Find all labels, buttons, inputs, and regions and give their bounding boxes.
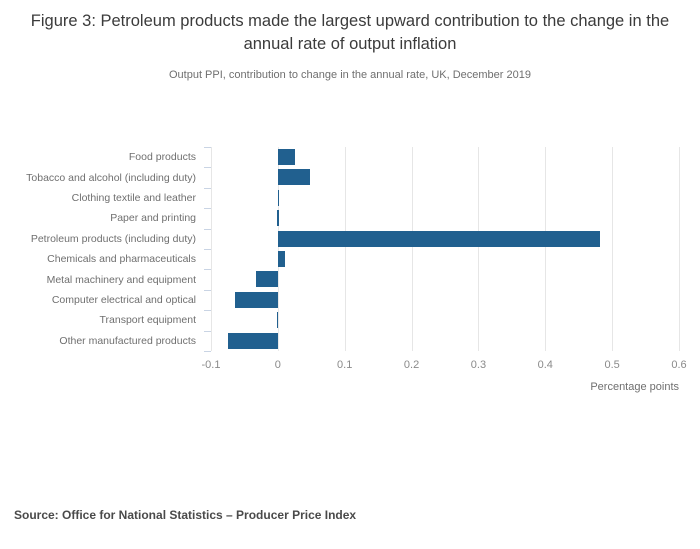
- y-axis-label: Transport equipment: [0, 314, 196, 326]
- x-tick-label: 0.3: [448, 359, 508, 371]
- x-tick-label: 0.2: [382, 359, 442, 371]
- x-tick-label: 0: [248, 359, 308, 371]
- bar: [278, 149, 295, 165]
- y-axis-category-labels: Food productsTobacco and alcohol (includ…: [0, 147, 205, 351]
- y-tick-mark: [204, 188, 211, 189]
- y-tick-mark: [204, 290, 211, 291]
- y-axis-label: Metal machinery and equipment: [0, 274, 196, 286]
- y-tick-mark: [204, 249, 211, 250]
- bar-row: [211, 147, 679, 167]
- y-axis-label: Other manufactured products: [0, 335, 196, 347]
- source-note: Source: Office for National Statistics –…: [0, 508, 700, 522]
- y-tick-mark: [204, 310, 211, 311]
- y-axis-label: Petroleum products (including duty): [0, 233, 196, 245]
- y-tick-mark: [204, 331, 211, 332]
- bar: [256, 271, 278, 287]
- bar: [235, 292, 278, 308]
- x-tick-label: -0.1: [181, 359, 241, 371]
- bar: [277, 210, 278, 226]
- bar-row: [211, 208, 679, 228]
- x-tick-label: 0.5: [582, 359, 642, 371]
- x-tick-label: 0.6: [649, 359, 700, 371]
- plot-area: [211, 147, 679, 351]
- bar-row: [211, 229, 679, 249]
- bar-row: [211, 310, 679, 330]
- y-tick-mark: [204, 147, 211, 148]
- y-tick-mark: [204, 167, 211, 168]
- y-axis-label: Paper and printing: [0, 212, 196, 224]
- bar: [278, 231, 600, 247]
- bar-row: [211, 249, 679, 269]
- y-axis-label: Food products: [0, 151, 196, 163]
- bar-row: [211, 269, 679, 289]
- gridline: [679, 147, 680, 351]
- bar: [228, 333, 278, 349]
- bar-row: [211, 188, 679, 208]
- x-tick-label: 0.1: [315, 359, 375, 371]
- y-axis-label: Tobacco and alcohol (including duty): [0, 172, 196, 184]
- bar: [278, 169, 310, 185]
- y-axis-label: Clothing textile and leather: [0, 192, 196, 204]
- y-axis-label: Computer electrical and optical: [0, 294, 196, 306]
- chart-footer: Source: Office for National Statistics –…: [0, 508, 700, 522]
- y-tick-mark: [204, 269, 211, 270]
- bar: [278, 190, 279, 206]
- y-tick-mark: [204, 351, 211, 352]
- bar-row: [211, 331, 679, 351]
- x-tick-label: 0.4: [515, 359, 575, 371]
- bar: [277, 312, 278, 328]
- y-axis-label: Chemicals and pharmaceuticals: [0, 253, 196, 265]
- y-tick-mark: [204, 208, 211, 209]
- bar-row: [211, 290, 679, 310]
- chart-figure: Food productsTobacco and alcohol (includ…: [0, 0, 700, 470]
- bar-row: [211, 167, 679, 187]
- x-axis-title: Percentage points: [590, 381, 679, 393]
- bar: [278, 251, 285, 267]
- y-tick-mark: [204, 229, 211, 230]
